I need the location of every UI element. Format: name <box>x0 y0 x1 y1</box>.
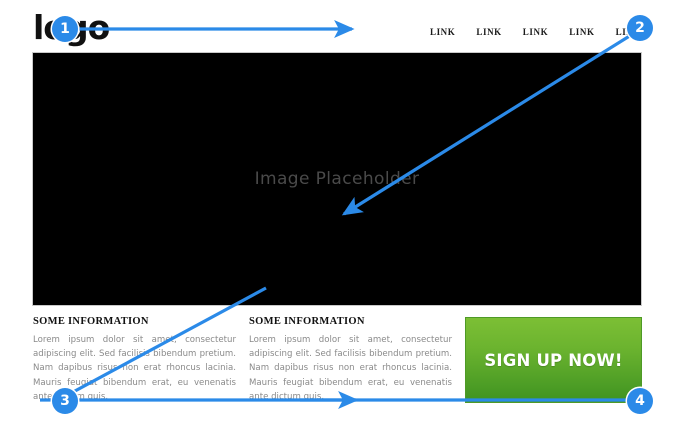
sign-up-now-button[interactable]: SIGN UP NOW! <box>466 318 641 402</box>
annotation-badge-4[interactable]: 4 <box>627 388 653 414</box>
sign-up-now-label: SIGN UP NOW! <box>484 351 622 370</box>
column-2-body: Lorem ipsum dolor sit amet, consectetur … <box>249 333 452 404</box>
annotation-badge-2[interactable]: 2 <box>627 15 653 41</box>
column-1-heading: SOME INFORMATION <box>33 316 236 327</box>
hero-placeholder-label: Image Placeholder <box>255 169 420 189</box>
annotation-badge-1[interactable]: 1 <box>52 16 78 42</box>
primary-navigation: LINK LINK LINK LINK LINK <box>430 27 641 37</box>
nav-link-1[interactable]: LINK <box>430 27 455 37</box>
nav-link-4[interactable]: LINK <box>569 27 594 37</box>
nav-link-3[interactable]: LINK <box>523 27 548 37</box>
hero-image-placeholder: Image Placeholder <box>33 53 641 305</box>
webpage-mockup: logo LINK LINK LINK LINK LINK Image Plac… <box>0 0 673 427</box>
site-header: logo LINK LINK LINK LINK LINK <box>33 6 641 50</box>
column-2-heading: SOME INFORMATION <box>249 316 452 327</box>
nav-link-2[interactable]: LINK <box>476 27 501 37</box>
annotation-badge-3[interactable]: 3 <box>52 388 78 414</box>
content-column-2: SOME INFORMATION Lorem ipsum dolor sit a… <box>249 316 452 404</box>
